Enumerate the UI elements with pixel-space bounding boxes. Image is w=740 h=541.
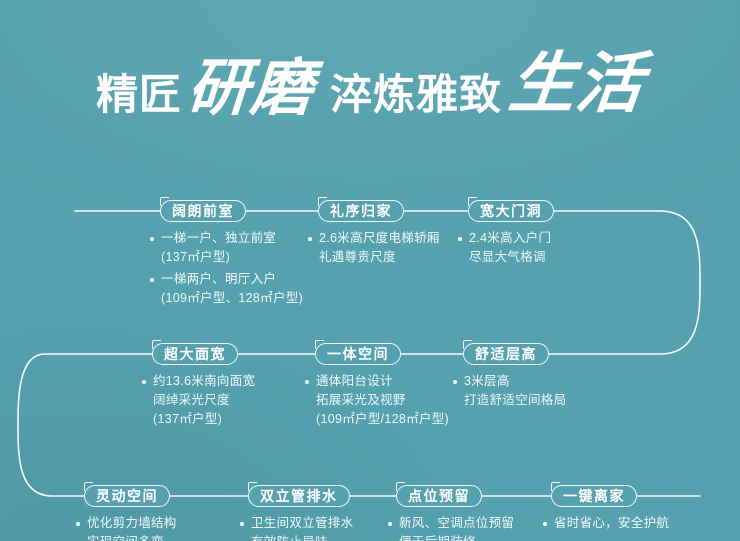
bullet-line: 实现空间多变 <box>87 533 177 541</box>
node-label-dianweiyuliu[interactable]: 点位预留 <box>396 485 482 507</box>
node-label-yitikongjian[interactable]: 一体空间 <box>315 343 401 365</box>
bullet-line: 2.6米高尺度电梯轿厢 <box>319 229 440 248</box>
bullet-line: 便于后期装修 <box>399 533 514 541</box>
node-label-yijianlijia[interactable]: 一键离家 <box>551 485 637 507</box>
bullet-line: 卫生间双立管排水 <box>251 514 353 533</box>
list-item: 2.6米高尺度电梯轿厢 礼遇尊贵尺度 <box>306 229 440 267</box>
bullet-line: (137㎡户型) <box>153 410 255 429</box>
bullet-line: (109㎡户型/128㎡户型) <box>316 410 449 429</box>
node-content-shuanglgpaishui: 卫生间双立管排水 有效防止异味 <box>238 514 353 541</box>
bullet-line: 打造舒适空间格局 <box>464 391 566 410</box>
list-item: 2.4米高入户门 尽显大气格调 <box>456 229 551 267</box>
title-segment-1: 精匠 <box>96 61 182 122</box>
bullet-line: 礼遇尊贵尺度 <box>319 248 440 267</box>
bullet-line: 2.4米高入户门 <box>469 229 551 248</box>
node-content-lingdongkongjian: 优化剪力墙结构 实现空间多变 <box>74 514 177 541</box>
node-content-yitikongjian: 通体阳台设计 拓展采光及视野 (109㎡户型/128㎡户型) <box>303 372 449 432</box>
list-item: 约13.6米南向面宽 阔绰采光尺度 (137㎡户型) <box>140 372 255 429</box>
title-segment-2: 研磨 <box>185 37 317 127</box>
node-label-chaodamiankuan[interactable]: 超大面宽 <box>152 343 238 365</box>
node-label-shushicenggao[interactable]: 舒适层高 <box>463 343 549 365</box>
bullet-line: 阔绰采光尺度 <box>153 391 255 410</box>
list-item: 通体阳台设计 拓展采光及视野 (109㎡户型/128㎡户型) <box>303 372 449 429</box>
list-item: 3米层高 打造舒适空间格局 <box>451 372 566 410</box>
page-title: 精匠 研磨 淬炼雅致 生活 <box>0 24 740 144</box>
bullet-line: 一梯一户、独立前室 <box>161 229 303 248</box>
poster-stage: 精匠 研磨 淬炼雅致 生活 阔朗前室 礼序归家 宽大门洞 一梯一户、独立前室 (… <box>0 0 740 541</box>
bullet-line: 通体阳台设计 <box>316 372 449 391</box>
bullet-line: 一梯两户、明厅入户 <box>161 270 303 289</box>
list-item: 一梯两户、明厅入户 (109㎡户型、128㎡户型) <box>148 270 303 308</box>
node-content-chaodamiankuan: 约13.6米南向面宽 阔绰采光尺度 (137㎡户型) <box>140 372 255 432</box>
node-label-kuolangqianshi[interactable]: 阔朗前室 <box>160 200 246 222</box>
list-item: 卫生间双立管排水 有效防止异味 <box>238 514 353 541</box>
bullet-line: (137㎡户型) <box>161 248 303 267</box>
node-content-yijianlijia: 省时省心，安全护航 <box>541 514 669 536</box>
node-content-lixuguijia: 2.6米高尺度电梯轿厢 礼遇尊贵尺度 <box>306 229 440 270</box>
bullet-line: 新风、空调点位预留 <box>399 514 514 533</box>
bullet-line: 3米层高 <box>464 372 566 391</box>
bullet-line: 拓展采光及视野 <box>316 391 449 410</box>
list-item: 优化剪力墙结构 实现空间多变 <box>74 514 177 541</box>
list-item: 省时省心，安全护航 <box>541 514 669 533</box>
bullet-line: 有效防止异味 <box>251 533 353 541</box>
title-segment-3: 淬炼雅致 <box>330 61 502 122</box>
list-item: 新风、空调点位预留 便于后期装修 <box>386 514 514 541</box>
bullet-line: (109㎡户型、128㎡户型) <box>161 289 303 308</box>
title-segment-4: 生活 <box>505 30 649 126</box>
bullet-line: 约13.6米南向面宽 <box>153 372 255 391</box>
node-label-kuandamendong[interactable]: 宽大门洞 <box>468 200 554 222</box>
node-content-dianweiyuliu: 新风、空调点位预留 便于后期装修 <box>386 514 514 541</box>
node-label-lingdongkongjian[interactable]: 灵动空间 <box>84 485 170 507</box>
node-label-shuanglgpaishui[interactable]: 双立管排水 <box>248 485 350 507</box>
node-content-kuandamendong: 2.4米高入户门 尽显大气格调 <box>456 229 551 270</box>
node-label-lixuguijia[interactable]: 礼序归家 <box>318 200 404 222</box>
node-content-shushicenggao: 3米层高 打造舒适空间格局 <box>451 372 566 413</box>
bullet-line: 省时省心，安全护航 <box>554 514 669 533</box>
list-item: 一梯一户、独立前室 (137㎡户型) <box>148 229 303 267</box>
bullet-line: 尽显大气格调 <box>469 248 551 267</box>
bullet-line: 优化剪力墙结构 <box>87 514 177 533</box>
node-content-kuolangqianshi: 一梯一户、独立前室 (137㎡户型) 一梯两户、明厅入户 (109㎡户型、128… <box>148 229 303 311</box>
